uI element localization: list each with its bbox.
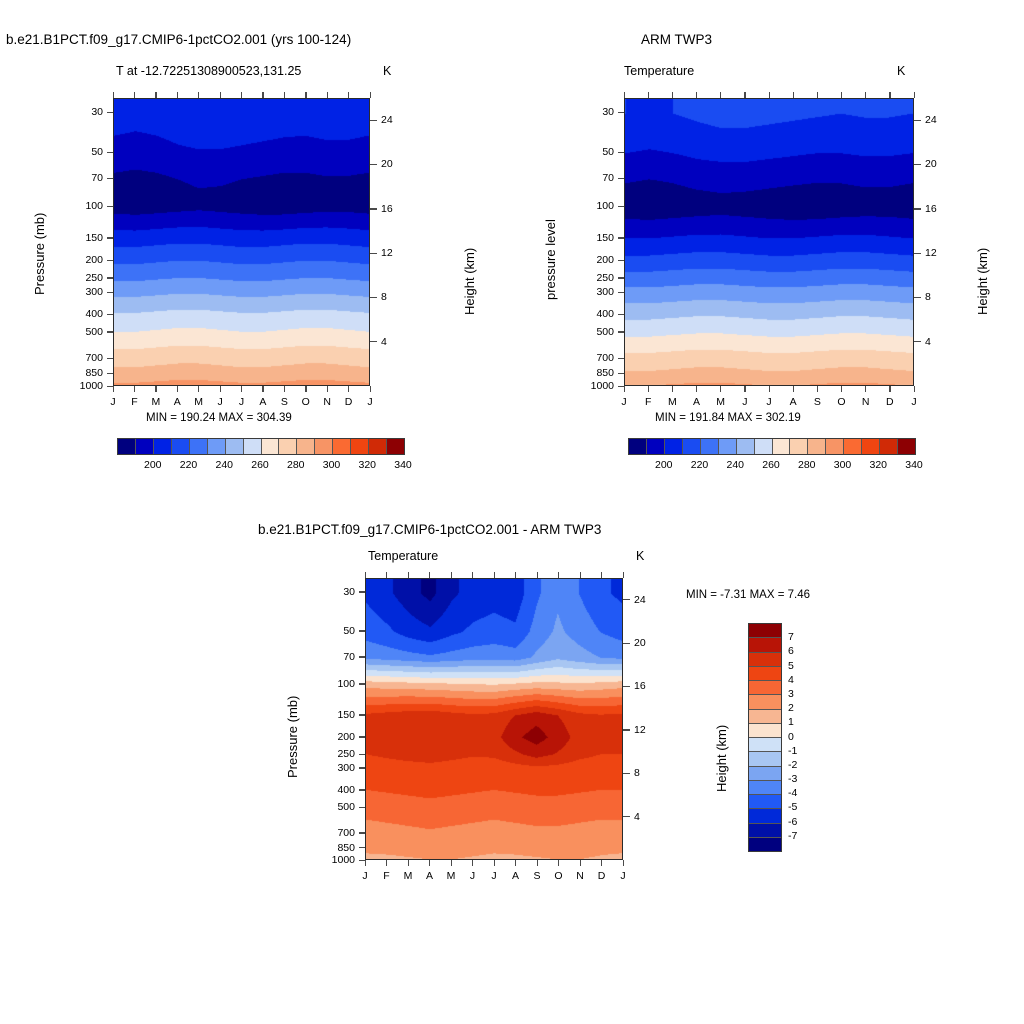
month-tick-label: A [426,870,433,882]
colorbar-segment [629,439,647,454]
colorbar-tick-label: 300 [323,459,341,471]
temperature-colorbar-obs [628,438,916,455]
height-tick-mark [370,120,377,121]
month-tick-mark [134,386,135,392]
month-tick-mark-top [177,92,178,98]
colorbar-tick-label: -1 [788,745,797,757]
panel-model-minmax: MIN = 190.24 MAX = 304.39 [146,412,292,424]
month-tick-label: N [862,396,870,408]
month-tick-mark-top [515,572,516,578]
month-tick-mark [113,386,114,392]
colorbar-tick-label: 220 [180,459,198,471]
colorbar-tick-label: 220 [691,459,709,471]
colorbar-segment [118,439,136,454]
colorbar-segment [826,439,844,454]
pressure-tick-mark [107,314,113,315]
colorbar-tick-label: 4 [788,674,794,686]
pressure-tick-label: 300 [309,762,355,774]
month-tick-mark [841,386,842,392]
height-tick-label: 8 [634,767,640,779]
month-tick-label: J [362,870,367,882]
colorbar-tick-label: 200 [144,459,162,471]
height-tick-label: 24 [634,594,646,606]
month-tick-label: J [766,396,771,408]
colorbar-segment [749,624,781,638]
pressure-tick-label: 850 [568,367,614,379]
height-tick-mark [623,686,630,687]
month-tick-mark [817,386,818,392]
colorbar-tick-label: 3 [788,688,794,700]
panel-model-ylabel-right: Height (km) [462,248,477,315]
pressure-tick-mark [618,373,624,374]
month-tick-label: J [367,396,372,408]
height-tick-label: 16 [381,203,393,215]
month-tick-mark-top [155,92,156,98]
pressure-tick-label: 400 [309,784,355,796]
month-tick-mark-top [348,92,349,98]
colorbar-segment [262,439,280,454]
colorbar-segment [749,809,781,823]
colorbar-segment [369,439,387,454]
month-tick-mark-top [624,92,625,98]
month-tick-mark [648,386,649,392]
month-tick-label: O [837,396,845,408]
height-tick-mark [914,253,921,254]
height-tick-mark [370,253,377,254]
pressure-tick-label: 150 [57,232,103,244]
month-tick-mark-top [429,572,430,578]
month-tick-mark-top [327,92,328,98]
pressure-tick-label: 500 [57,326,103,338]
height-tick-mark [623,729,630,730]
difference-colorbar [748,623,782,852]
month-tick-label: O [554,870,562,882]
pressure-tick-mark [618,314,624,315]
height-tick-label: 20 [925,158,937,170]
pressure-tick-label: 70 [309,651,355,663]
month-tick-mark [672,386,673,392]
month-tick-mark [865,386,866,392]
pressure-tick-mark [359,789,365,790]
pressure-tick-label: 100 [57,200,103,212]
pressure-tick-mark [359,832,365,833]
pressure-tick-label: 30 [568,106,614,118]
colorbar-segment [898,439,915,454]
colorbar-tick-label: 240 [726,459,744,471]
colorbar-tick-label: 320 [869,459,887,471]
height-tick-label: 4 [634,811,640,823]
pressure-tick-mark [618,277,624,278]
panel-model-units: K [383,64,391,78]
height-tick-mark [914,297,921,298]
colorbar-segment [701,439,719,454]
month-tick-mark-top [672,92,673,98]
pressure-tick-mark [618,112,624,113]
month-tick-mark-top [744,92,745,98]
month-tick-label: J [911,396,916,408]
colorbar-tick-label: 260 [251,459,269,471]
pressure-tick-label: 1000 [568,380,614,392]
month-tick-mark [793,386,794,392]
panel-difference-plot-area [365,578,623,860]
month-tick-mark [769,386,770,392]
pressure-tick-label: 150 [568,232,614,244]
month-tick-mark [348,386,349,392]
month-tick-label: M [404,870,413,882]
height-tick-label: 8 [925,291,931,303]
colorbar-segment [749,824,781,838]
month-tick-mark-top [472,572,473,578]
colorbar-tick-label: 340 [905,459,923,471]
month-tick-label: J [470,870,475,882]
pressure-tick-mark [107,152,113,153]
colorbar-segment [154,439,172,454]
pressure-tick-label: 700 [568,352,614,364]
month-tick-mark [558,860,559,866]
month-tick-mark-top [914,92,915,98]
pressure-tick-label: 100 [568,200,614,212]
month-tick-mark [889,386,890,392]
month-tick-mark-top [365,572,366,578]
colorbar-tick-label: 2 [788,702,794,714]
month-tick-mark [744,386,745,392]
month-tick-label: J [217,396,222,408]
panel-obs-units: K [897,64,905,78]
pressure-tick-mark [107,237,113,238]
month-tick-mark-top [370,92,371,98]
month-tick-mark-top [648,92,649,98]
month-tick-mark [624,386,625,392]
month-tick-label: S [814,396,821,408]
month-tick-label: N [576,870,584,882]
month-tick-mark [220,386,221,392]
month-tick-mark [262,386,263,392]
panel-difference-title: b.e21.B1PCT.f09_g17.CMIP6-1pctCO2.001 - … [258,522,601,537]
month-tick-mark [241,386,242,392]
month-tick-mark [327,386,328,392]
height-tick-label: 24 [381,114,393,126]
month-tick-mark [494,860,495,866]
colorbar-tick-label: -4 [788,787,797,799]
colorbar-segment [880,439,898,454]
month-tick-mark [601,860,602,866]
colorbar-tick-label: 0 [788,731,794,743]
pressure-tick-mark [618,206,624,207]
colorbar-segment [244,439,262,454]
month-tick-label: D [345,396,353,408]
month-tick-label: A [693,396,700,408]
month-tick-mark-top [889,92,890,98]
panel-difference-units: K [636,549,644,563]
pressure-tick-mark [618,331,624,332]
colorbar-segment [749,752,781,766]
month-tick-mark-top [134,92,135,98]
colorbar-segment [749,638,781,652]
pressure-tick-mark [107,373,113,374]
month-tick-mark [537,860,538,866]
height-tick-mark [370,208,377,209]
month-tick-label: F [645,396,651,408]
colorbar-segment [755,439,773,454]
pressure-tick-mark [618,178,624,179]
month-tick-mark [305,386,306,392]
height-tick-mark [370,341,377,342]
height-tick-mark [370,164,377,165]
month-tick-mark-top [305,92,306,98]
month-tick-mark [198,386,199,392]
month-tick-mark-top [220,92,221,98]
month-tick-mark-top [113,92,114,98]
colorbar-segment [315,439,333,454]
month-tick-mark-top [841,92,842,98]
month-tick-mark-top [386,572,387,578]
colorbar-segment [333,439,351,454]
pressure-tick-mark [107,292,113,293]
month-tick-mark [386,860,387,866]
height-tick-label: 16 [634,680,646,692]
month-tick-label: M [716,396,725,408]
month-tick-label: A [512,870,519,882]
colorbar-tick-label: 7 [788,631,794,643]
month-tick-mark [515,860,516,866]
pressure-tick-mark [107,112,113,113]
pressure-tick-mark [359,714,365,715]
pressure-tick-label: 400 [568,308,614,320]
pressure-tick-label: 700 [309,827,355,839]
month-tick-mark-top [451,572,452,578]
colorbar-segment [862,439,880,454]
pressure-tick-mark [107,277,113,278]
month-tick-mark-top [601,572,602,578]
pressure-tick-label: 400 [57,308,103,320]
month-tick-mark-top [865,92,866,98]
colorbar-tick-label: -7 [788,830,797,842]
month-tick-label: A [259,396,266,408]
month-tick-mark-top [623,572,624,578]
panel-obs-ylabel-left: pressure level [543,219,558,300]
panel-difference-minmax: MIN = -7.31 MAX = 7.46 [686,589,810,601]
colorbar-segment [172,439,190,454]
pressure-tick-mark [618,292,624,293]
pressure-tick-label: 700 [57,352,103,364]
month-tick-mark-top [198,92,199,98]
pressure-tick-label: 30 [309,586,355,598]
panel-model-title: b.e21.B1PCT.f09_g17.CMIP6-1pctCO2.001 (y… [6,32,351,47]
month-tick-label: J [621,396,626,408]
month-tick-mark-top [817,92,818,98]
pressure-tick-label: 1000 [309,854,355,866]
month-tick-label: M [668,396,677,408]
pressure-tick-label: 1000 [57,380,103,392]
pressure-tick-label: 850 [57,367,103,379]
colorbar-segment [351,439,369,454]
colorbar-tick-label: 320 [358,459,376,471]
colorbar-tick-label: 1 [788,716,794,728]
pressure-tick-label: 30 [57,106,103,118]
month-tick-label: M [194,396,203,408]
pressure-tick-mark [107,206,113,207]
pressure-tick-label: 500 [568,326,614,338]
colorbar-tick-label: 280 [287,459,305,471]
panel-obs-title: ARM TWP3 [641,32,712,47]
month-tick-mark-top [696,92,697,98]
pressure-tick-mark [107,331,113,332]
height-tick-mark [623,773,630,774]
panel-difference-ylabel-right: Height (km) [714,725,729,792]
height-tick-label: 24 [925,114,937,126]
month-tick-mark-top [408,572,409,578]
month-tick-label: A [174,396,181,408]
month-tick-label: S [281,396,288,408]
month-tick-mark [365,860,366,866]
pressure-tick-mark [359,754,365,755]
colorbar-tick-label: 6 [788,645,794,657]
panel-difference-ylabel-left: Pressure (mb) [285,696,300,778]
height-tick-label: 12 [634,724,646,736]
panel-model-ylabel-left: Pressure (mb) [32,213,47,295]
contour-field [114,99,369,385]
pressure-tick-label: 200 [57,254,103,266]
colorbar-segment [665,439,683,454]
colorbar-segment [136,439,154,454]
month-tick-label: J [491,870,496,882]
pressure-tick-label: 50 [309,625,355,637]
contour-field [366,579,622,859]
month-tick-mark [472,860,473,866]
pressure-tick-mark [618,152,624,153]
pressure-tick-mark [107,260,113,261]
pressure-tick-label: 70 [57,172,103,184]
pressure-tick-label: 100 [309,678,355,690]
colorbar-segment [683,439,701,454]
month-tick-label: F [383,870,389,882]
month-tick-mark-top [262,92,263,98]
month-tick-label: F [131,396,137,408]
panel-obs-subtitle: Temperature [624,64,694,78]
colorbar-tick-label: -2 [788,759,797,771]
height-tick-mark [370,297,377,298]
pressure-tick-label: 50 [57,146,103,158]
colorbar-segment [749,738,781,752]
pressure-tick-mark [618,260,624,261]
month-tick-mark [429,860,430,866]
month-tick-label: J [239,396,244,408]
colorbar-tick-label: -3 [788,773,797,785]
height-tick-mark [914,164,921,165]
colorbar-segment [749,681,781,695]
height-tick-mark [914,341,921,342]
colorbar-segment [808,439,826,454]
height-tick-label: 4 [381,336,387,348]
height-tick-label: 20 [634,637,646,649]
height-tick-label: 8 [381,291,387,303]
month-tick-mark [696,386,697,392]
month-tick-label: A [790,396,797,408]
month-tick-label: N [323,396,331,408]
height-tick-label: 12 [381,247,393,259]
pressure-tick-label: 300 [57,286,103,298]
panel-model-subtitle: T at -12.72251308900523,131.25 [116,64,301,78]
pressure-tick-mark [107,178,113,179]
month-tick-mark-top [580,572,581,578]
contour-field [625,99,913,385]
month-tick-mark-top [558,572,559,578]
colorbar-tick-label: 260 [762,459,780,471]
month-tick-mark-top [494,572,495,578]
pressure-tick-mark [359,656,365,657]
pressure-tick-mark [359,767,365,768]
colorbar-tick-label: 200 [655,459,673,471]
panel-model-plot-area [113,98,370,386]
month-tick-label: S [533,870,540,882]
pressure-tick-label: 300 [568,286,614,298]
colorbar-segment [790,439,808,454]
height-tick-mark [914,120,921,121]
pressure-tick-label: 850 [309,842,355,854]
colorbar-tick-label: -6 [788,816,797,828]
month-tick-mark [284,386,285,392]
month-tick-mark [580,860,581,866]
temperature-colorbar-model [117,438,405,455]
month-tick-mark [177,386,178,392]
colorbar-segment [749,695,781,709]
month-tick-mark-top [241,92,242,98]
month-tick-mark [623,860,624,866]
colorbar-segment [749,767,781,781]
panel-obs-ylabel-right: Height (km) [975,248,990,315]
month-tick-label: J [742,396,747,408]
colorbar-segment [749,667,781,681]
pressure-tick-mark [618,358,624,359]
colorbar-segment [773,439,791,454]
pressure-tick-label: 500 [309,801,355,813]
colorbar-segment [749,724,781,738]
month-tick-mark [155,386,156,392]
pressure-tick-mark [359,683,365,684]
month-tick-mark [720,386,721,392]
month-tick-mark-top [284,92,285,98]
colorbar-segment [749,838,781,851]
colorbar-tick-label: 5 [788,660,794,672]
colorbar-segment [749,795,781,809]
colorbar-segment [749,710,781,724]
colorbar-tick-label: -5 [788,801,797,813]
month-tick-label: M [151,396,160,408]
month-tick-mark [370,386,371,392]
height-tick-mark [914,208,921,209]
panel-obs-minmax: MIN = 191.84 MAX = 302.19 [655,412,801,424]
month-tick-mark [451,860,452,866]
pressure-tick-mark [359,847,365,848]
colorbar-segment [208,439,226,454]
colorbar-segment [719,439,737,454]
colorbar-tick-label: 240 [215,459,233,471]
month-tick-mark [408,860,409,866]
pressure-tick-label: 50 [568,146,614,158]
height-tick-mark [623,816,630,817]
month-tick-label: J [620,870,625,882]
colorbar-segment [190,439,208,454]
pressure-tick-label: 200 [568,254,614,266]
height-tick-label: 12 [925,247,937,259]
colorbar-segment [279,439,297,454]
month-tick-label: M [447,870,456,882]
pressure-tick-mark [107,358,113,359]
panel-difference-subtitle: Temperature [368,549,438,563]
pressure-tick-label: 250 [568,272,614,284]
colorbar-segment [647,439,665,454]
month-tick-mark-top [793,92,794,98]
